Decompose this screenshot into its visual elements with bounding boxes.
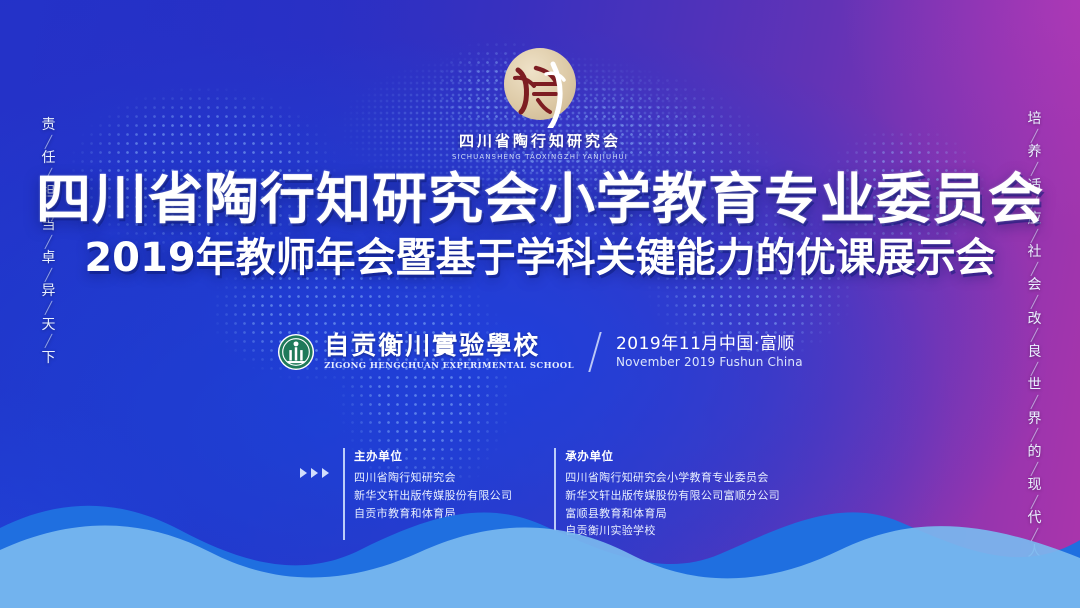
organizer-line: 四川省陶行知研究会小学教育专业委员会 (565, 469, 780, 487)
school-logo: 自贡衡川實验學校 ZIGONG HENGCHUAN EXPERIMENTAL S… (277, 333, 574, 371)
event-date-cn: 2019年11月中国·富顺 (616, 334, 803, 355)
event-date: 2019年11月中国·富顺 November 2019 Fushun China (616, 334, 803, 371)
organizer-title: 承办单位 (565, 448, 780, 464)
bottom-waves-decoration (0, 488, 1080, 608)
page-title: 四川省陶行知研究会小学教育专业委员会 (0, 172, 1080, 227)
wave-front (0, 526, 1080, 608)
association-name-pinyin: SICHUANSHENG TAOXINGZHI YANJIUHUI (452, 153, 628, 161)
organizer-line: 四川省陶行知研究会 (354, 469, 512, 487)
school-names: 自贡衡川實验學校 ZIGONG HENGCHUAN EXPERIMENTAL S… (324, 333, 574, 371)
school-and-date-row: 自贡衡川實验學校 ZIGONG HENGCHUAN EXPERIMENTAL S… (0, 332, 1080, 372)
organizer-title: 主办单位 (354, 448, 512, 464)
conference-banner: 责╱任╱担╱当╱卓╱异╱天╱下 培╱养╱适╱应╱社╱会╱改╱良╱世╱界╱的╱现╱… (0, 0, 1080, 608)
school-emblem-icon (277, 333, 315, 371)
page-subtitle: 2019年教师年会暨基于学科关键能力的优课展示会 (0, 238, 1080, 278)
slogan-separator: ╱ (1031, 396, 1039, 409)
seal-calligraphy-icon (498, 44, 582, 128)
right-slogan-char: 改 (1028, 312, 1043, 327)
association-seal-icon (498, 44, 582, 128)
right-slogan-char: 会 (1028, 278, 1043, 293)
left-slogan-char: 天 (42, 318, 57, 333)
triangle-arrows-icon (300, 468, 329, 478)
slash-divider (588, 332, 601, 372)
association-logo: 四川省陶行知研究会 SICHUANSHENG TAOXINGZHI YANJIU… (0, 44, 1080, 161)
right-slogan-char: 界 (1028, 412, 1043, 427)
right-slogan-char: 世 (1028, 378, 1043, 393)
school-name-cn: 自贡衡川實验學校 (324, 333, 574, 359)
event-date-en: November 2019 Fushun China (616, 355, 803, 371)
slogan-separator: ╱ (1031, 296, 1039, 309)
left-slogan-char: 异 (42, 284, 57, 299)
school-name-en: ZIGONG HENGCHUAN EXPERIMENTAL SCHOOL (324, 361, 574, 371)
slogan-separator: ╱ (1031, 429, 1039, 442)
association-name-cn: 四川省陶行知研究会 (459, 130, 621, 151)
slogan-separator: ╱ (45, 302, 53, 315)
